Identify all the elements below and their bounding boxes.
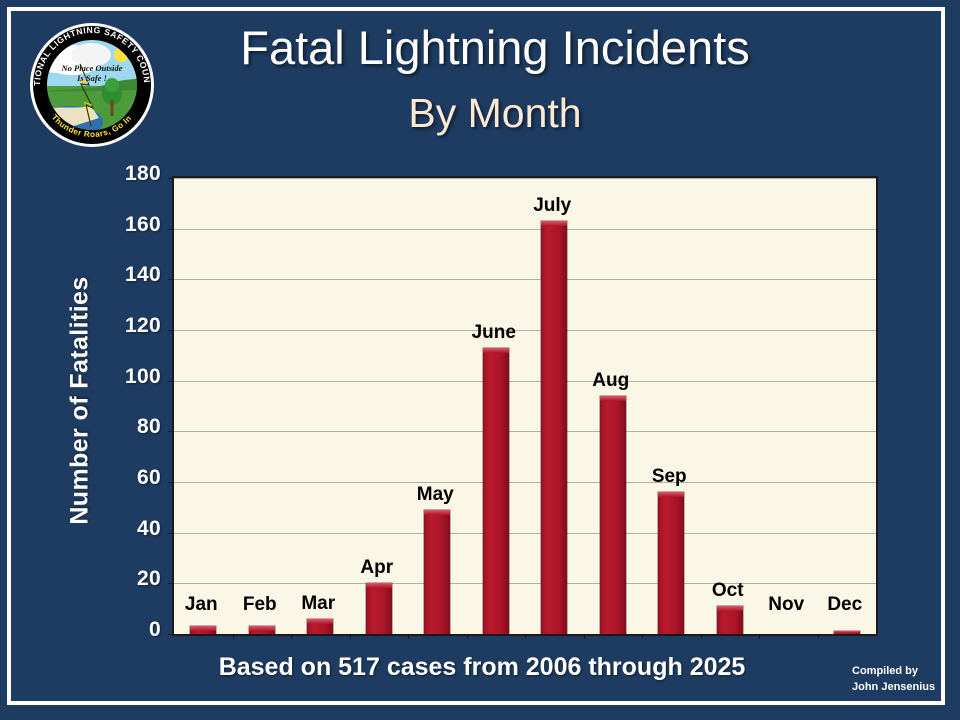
- y-axis-tick-label: 20: [0, 567, 161, 591]
- bar-july[interactable]: [541, 221, 567, 634]
- bar-feb[interactable]: [249, 626, 275, 634]
- x-axis-tick: [642, 634, 643, 639]
- y-axis-tick: [168, 482, 174, 483]
- x-axis-tick: [584, 634, 585, 639]
- credit-block: Compiled by John Jensenius: [852, 664, 952, 696]
- y-axis-tick: [168, 583, 174, 584]
- bar-top-highlight: [307, 619, 333, 624]
- svg-text:Is Safe !: Is Safe !: [76, 73, 107, 83]
- x-axis-tick: [408, 634, 409, 639]
- y-axis-tick: [168, 229, 174, 230]
- gridline: [174, 381, 876, 382]
- x-axis-tick: [759, 634, 760, 639]
- gridline: [174, 279, 876, 280]
- national-lightning-safety-council-logo: NATIONAL LIGHTNING SAFETY COUNCIL When T…: [29, 22, 155, 148]
- credit-line-2: John Jensenius: [852, 680, 952, 696]
- bar-top-highlight: [483, 348, 509, 353]
- bar-top-highlight: [834, 631, 860, 633]
- x-axis-tick: [525, 634, 526, 639]
- x-axis-tick: [233, 634, 234, 639]
- bar-label-mar: Mar: [278, 593, 358, 615]
- bar-top-highlight: [541, 221, 567, 226]
- x-axis-tick: [350, 634, 351, 639]
- y-axis-tick-label: 100: [0, 365, 161, 389]
- gridline: [174, 482, 876, 483]
- slide-root: NATIONAL LIGHTNING SAFETY COUNCIL When T…: [0, 0, 960, 720]
- y-axis-tick: [168, 634, 174, 635]
- bar-top-highlight: [190, 626, 216, 631]
- chart-plot-area: [172, 176, 878, 636]
- y-axis-tick: [168, 178, 174, 179]
- bar-top-highlight: [249, 626, 275, 631]
- y-axis-tick: [168, 279, 174, 280]
- bar-top-highlight: [424, 510, 450, 515]
- bar-oct[interactable]: [717, 606, 743, 634]
- bar-june[interactable]: [483, 348, 509, 634]
- y-axis-tick: [168, 381, 174, 382]
- y-axis-tick: [168, 330, 174, 331]
- y-axis-tick-label: 160: [0, 213, 161, 237]
- bar-label-sep: Sep: [629, 466, 709, 488]
- page-title: Fatal Lightning Incidents: [175, 24, 815, 72]
- bar-jan[interactable]: [190, 626, 216, 634]
- bar-mar[interactable]: [307, 619, 333, 634]
- x-axis-tick: [467, 634, 468, 639]
- bar-label-aug: Aug: [571, 370, 651, 392]
- bar-label-dec: Dec: [805, 594, 885, 616]
- y-axis-tick-label: 40: [0, 517, 161, 541]
- bar-apr[interactable]: [366, 583, 392, 634]
- chart-caption: Based on 517 cases from 2006 through 202…: [172, 653, 792, 682]
- bar-top-highlight: [717, 606, 743, 611]
- bar-label-may: May: [395, 484, 475, 506]
- y-axis-tick-label: 80: [0, 415, 161, 439]
- y-axis-tick: [168, 431, 174, 432]
- x-axis-tick: [291, 634, 292, 639]
- bar-sep[interactable]: [658, 492, 684, 634]
- bar-top-highlight: [366, 583, 392, 588]
- y-axis-tick-label: 0: [0, 618, 161, 642]
- svg-text:No Place Outside: No Place Outside: [61, 63, 123, 73]
- bar-dec[interactable]: [834, 631, 860, 634]
- gridline: [174, 431, 876, 432]
- y-axis-tick-label: 120: [0, 314, 161, 338]
- bar-may[interactable]: [424, 510, 450, 634]
- bar-label-july: July: [512, 195, 592, 217]
- y-axis-tick-label: 60: [0, 466, 161, 490]
- gridline: [174, 178, 876, 179]
- x-axis-tick: [818, 634, 819, 639]
- page-subtitle: By Month: [175, 90, 815, 137]
- bar-top-highlight: [658, 492, 684, 497]
- gridline: [174, 583, 876, 584]
- bar-top-highlight: [600, 396, 626, 401]
- bar-label-june: June: [454, 322, 534, 344]
- credit-line-1: Compiled by: [852, 664, 952, 680]
- y-axis-tick-label: 140: [0, 263, 161, 287]
- gridline: [174, 533, 876, 534]
- x-axis-tick: [701, 634, 702, 639]
- y-axis-tick-label: 180: [0, 162, 161, 186]
- y-axis-tick: [168, 533, 174, 534]
- bar-aug[interactable]: [600, 396, 626, 634]
- gridline: [174, 229, 876, 230]
- bar-label-apr: Apr: [337, 557, 417, 579]
- chart-plot-inner: [174, 178, 876, 634]
